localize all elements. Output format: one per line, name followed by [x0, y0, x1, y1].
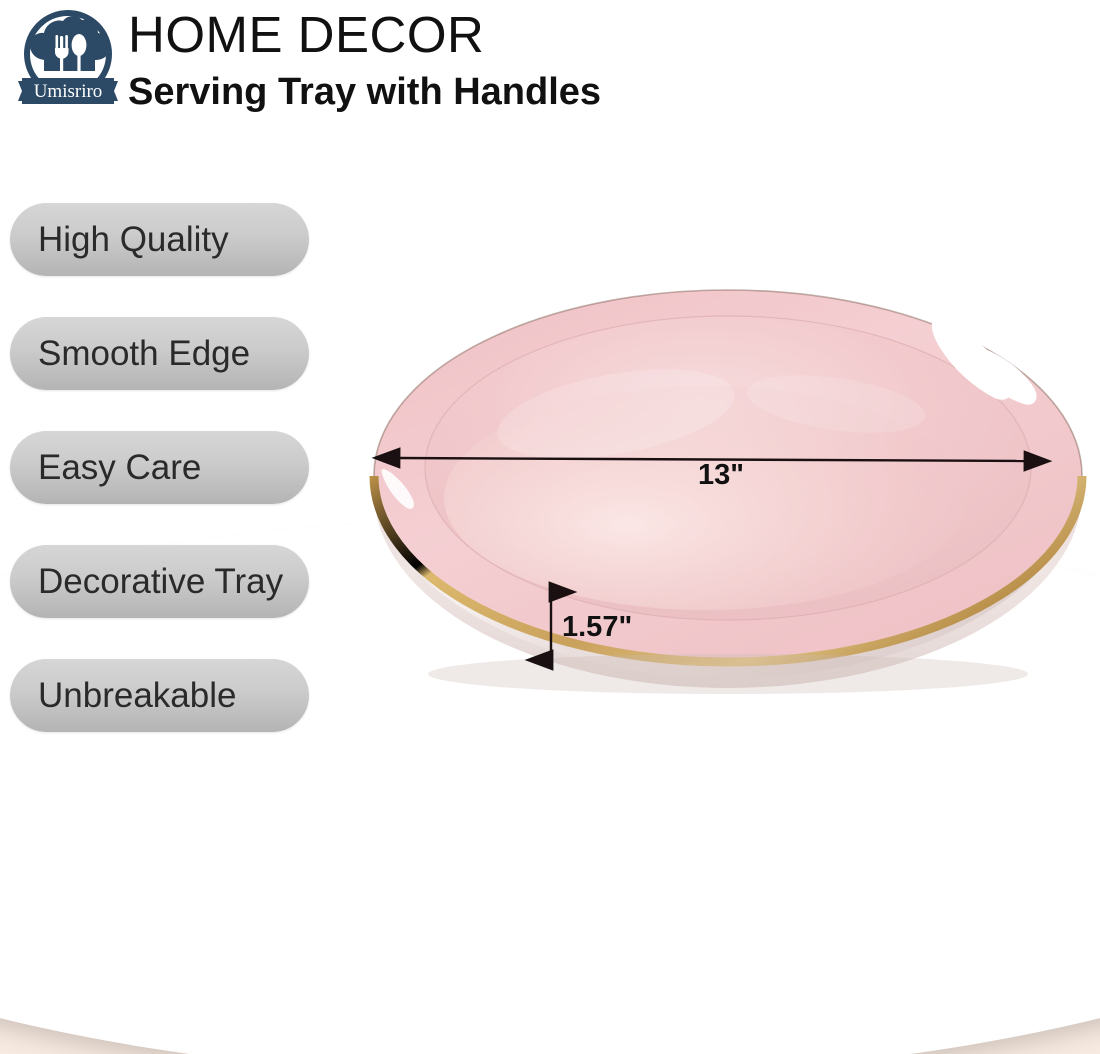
brand-logo: Umisriro	[16, 8, 120, 112]
feature-pill-easy-care[interactable]: Easy Care	[10, 431, 309, 504]
feature-pill-high-quality[interactable]: High Quality	[10, 203, 309, 276]
header: Umisriro HOME DECOR Serving Tray with Ha…	[0, 0, 1100, 130]
tray-contact-shadow	[428, 654, 1028, 694]
logo-banner-text: Umisriro	[34, 81, 103, 102]
pink-serving-tray-illustration	[366, 286, 1090, 716]
feature-pill-decorative-tray[interactable]: Decorative Tray	[10, 545, 309, 618]
feature-pill-unbreakable[interactable]: Unbreakable	[10, 659, 309, 732]
product-infographic: Umisriro HOME DECOR Serving Tray with Ha…	[0, 0, 1100, 1054]
feature-pill-label: Smooth Edge	[38, 334, 250, 374]
product-image	[366, 286, 1090, 716]
brand-title: HOME DECOR	[128, 6, 601, 64]
feature-pill-label: High Quality	[38, 220, 229, 260]
product-subtitle: Serving Tray with Handles	[128, 70, 601, 115]
chef-hat-logo-icon: Umisriro	[16, 8, 120, 112]
feature-pill-label: Unbreakable	[38, 676, 236, 716]
feature-pill-list: High Quality Smooth Edge Easy Care Decor…	[10, 203, 309, 773]
title-block: HOME DECOR Serving Tray with Handles	[128, 6, 601, 115]
feature-pill-label: Easy Care	[38, 448, 201, 488]
feature-pill-smooth-edge[interactable]: Smooth Edge	[10, 317, 309, 390]
feature-pill-label: Decorative Tray	[38, 562, 283, 602]
